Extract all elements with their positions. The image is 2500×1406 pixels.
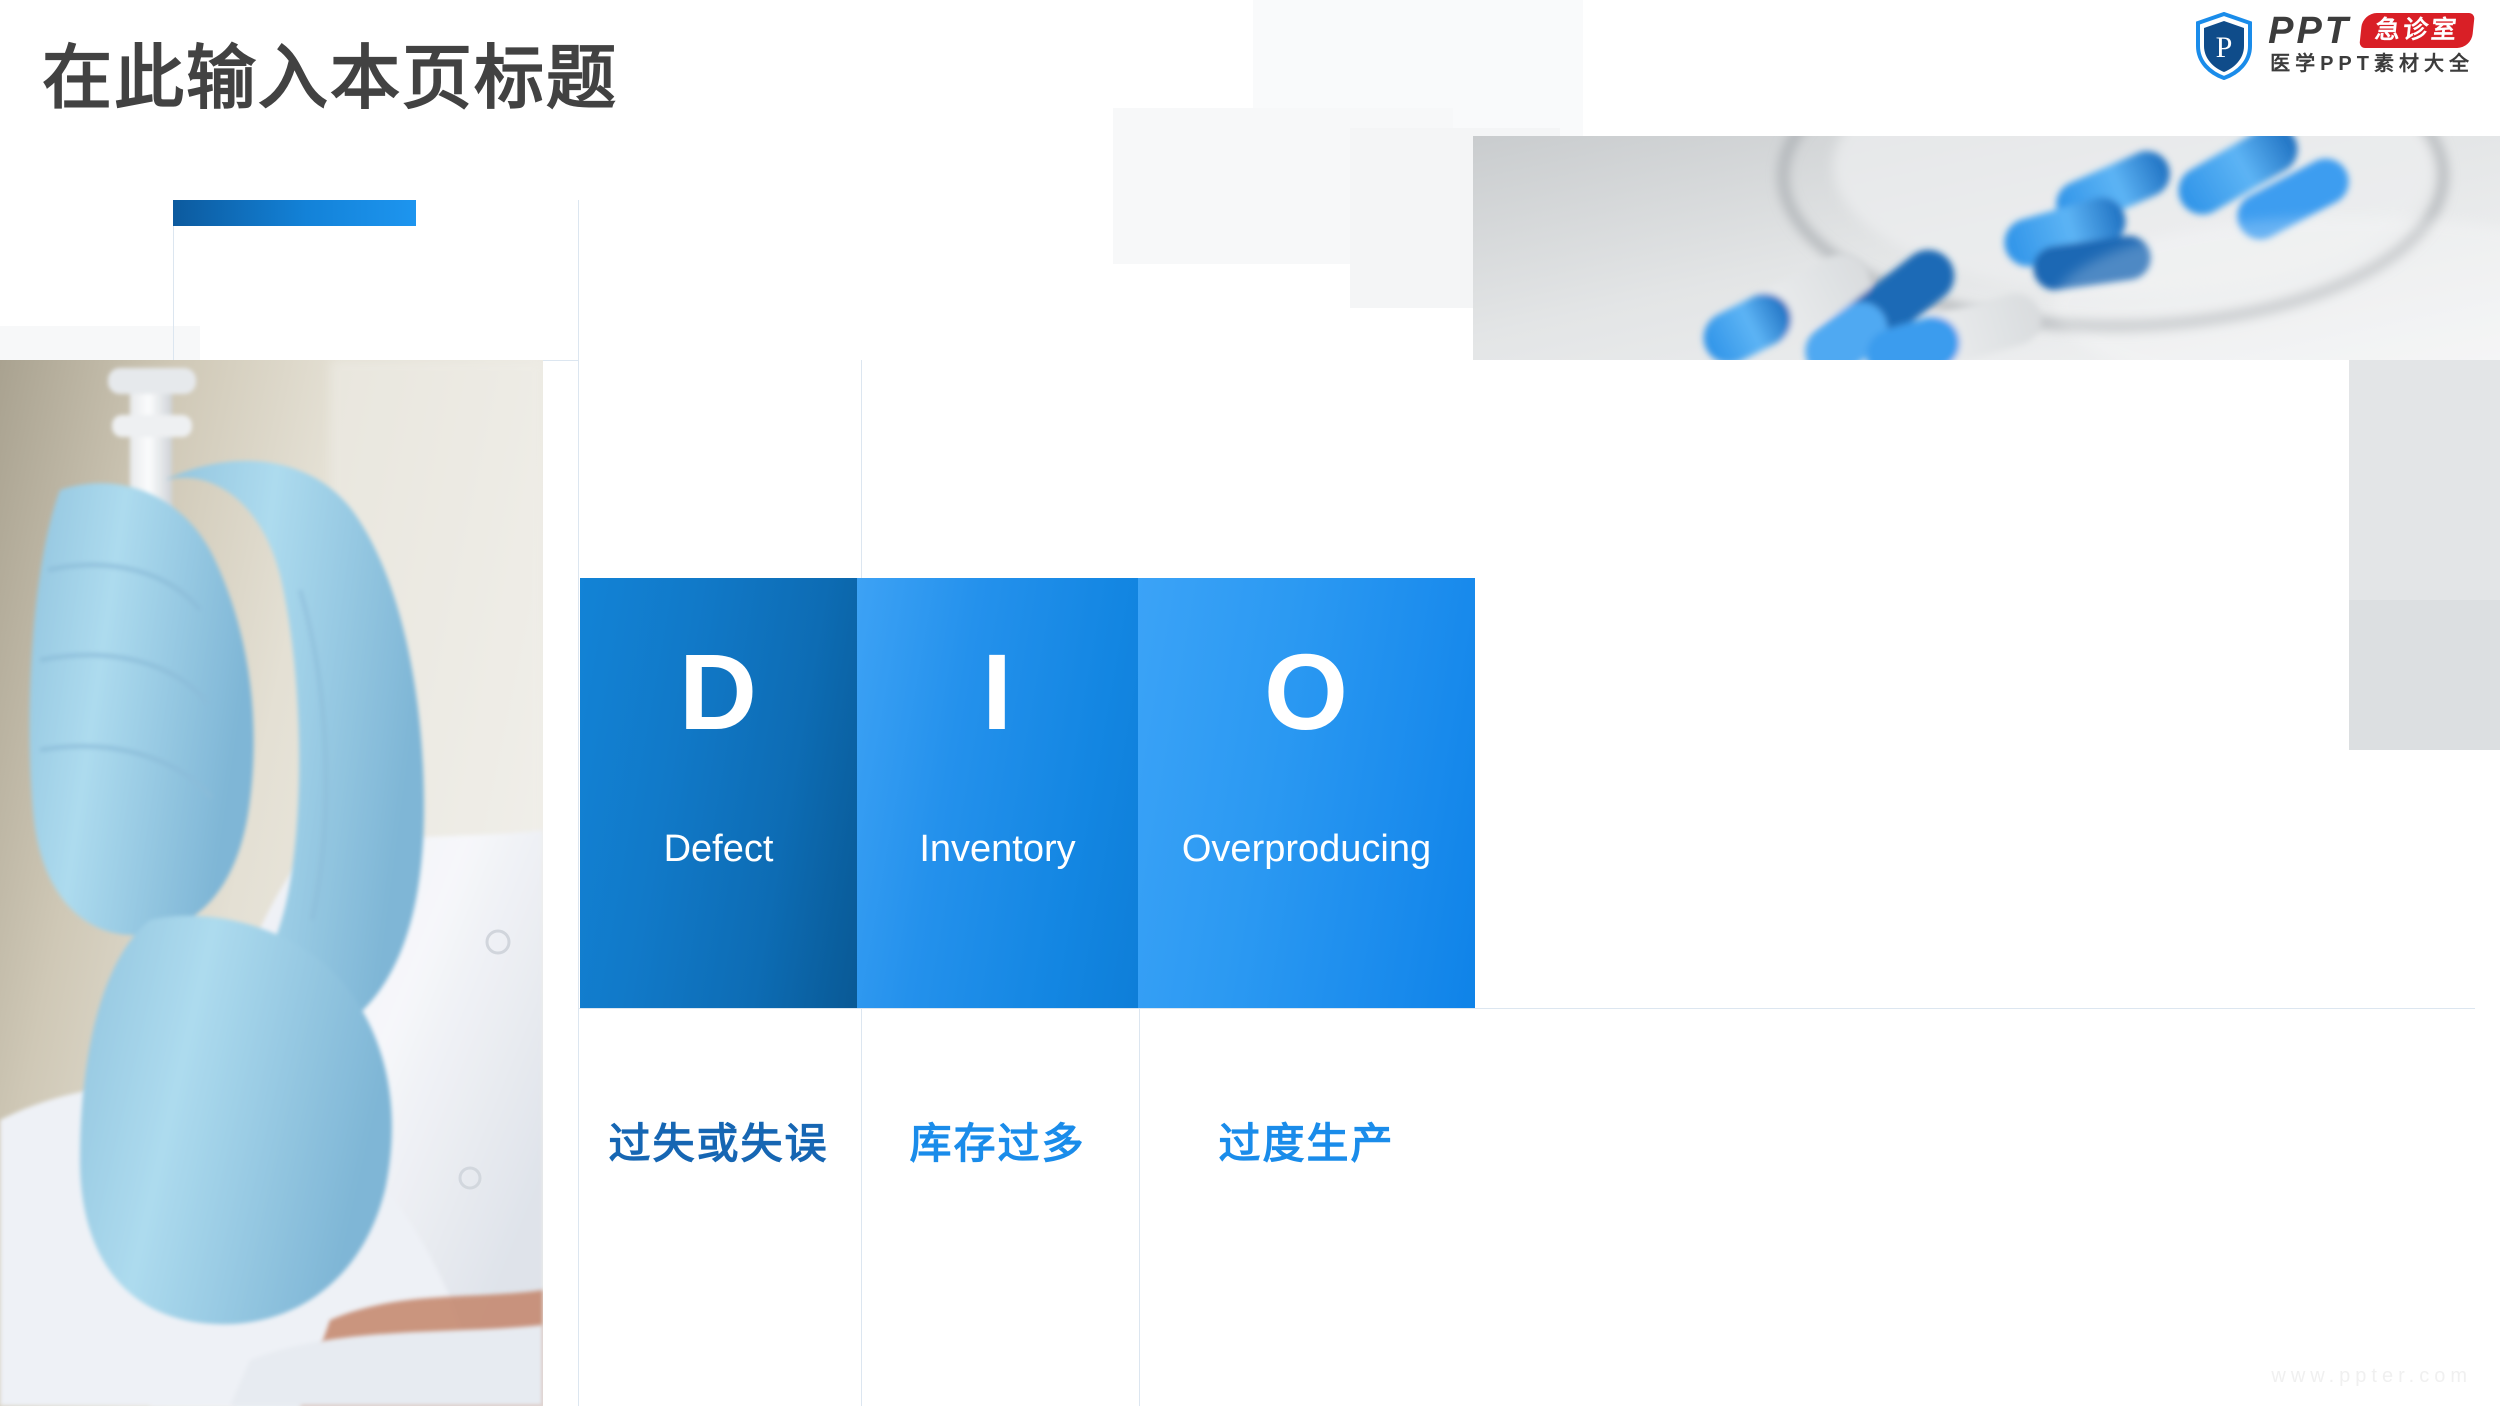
card-letter: D: [679, 638, 758, 746]
guide-line-v5: [861, 360, 862, 578]
caption-defect: 过失或失误: [580, 1110, 857, 1171]
decor-rect-right-1: [2349, 360, 2500, 600]
caption-inventory: 库存过多: [857, 1110, 1138, 1171]
pills-photo-graphic: [1473, 136, 2500, 360]
brand-logo[interactable]: P PPT 急诊室 医学PPT素材大全: [2194, 12, 2474, 80]
card-label: Overproducing: [1182, 828, 1431, 871]
title-accent-bar: [173, 200, 416, 226]
card-letter: I: [982, 638, 1013, 746]
card-inventory[interactable]: I Inventory: [857, 578, 1138, 1008]
logo-wordmark: PPT: [2268, 12, 2351, 50]
card-defect[interactable]: D Defect: [580, 578, 857, 1008]
caption-overproducing: 过度生产: [1138, 1110, 1475, 1171]
guide-line-v2: [578, 200, 579, 1406]
pills-photo: [1473, 136, 2500, 360]
logo-tagline: 医学PPT素材大全: [2268, 54, 2474, 74]
decor-rect-right-2: [2349, 600, 2500, 750]
card-label: Inventory: [919, 828, 1075, 871]
syringe-photo: [0, 360, 543, 1406]
card-label: Defect: [664, 828, 774, 871]
guide-line-v3: [861, 1008, 862, 1406]
site-watermark: www.ppter.com: [2271, 1365, 2472, 1388]
logo-row-primary: PPT 急诊室: [2268, 12, 2474, 50]
slide-canvas: 在此输入本页标题 P PPT 急诊室 医学PPT素材大全: [0, 0, 2500, 1406]
guide-line-h2: [578, 1008, 2475, 1009]
shield-icon: P: [2194, 12, 2254, 80]
svg-text:P: P: [2216, 31, 2233, 64]
page-title: 在此输入本页标题: [42, 40, 618, 117]
guide-line-v4: [1139, 1008, 1140, 1406]
syringe-photo-graphic: [0, 360, 543, 1406]
card-letter: O: [1264, 638, 1349, 746]
logo-text-block: PPT 急诊室 医学PPT素材大全: [2268, 12, 2474, 74]
logo-badge: 急诊室: [2359, 13, 2475, 48]
card-overproducing[interactable]: O Overproducing: [1138, 578, 1475, 1008]
